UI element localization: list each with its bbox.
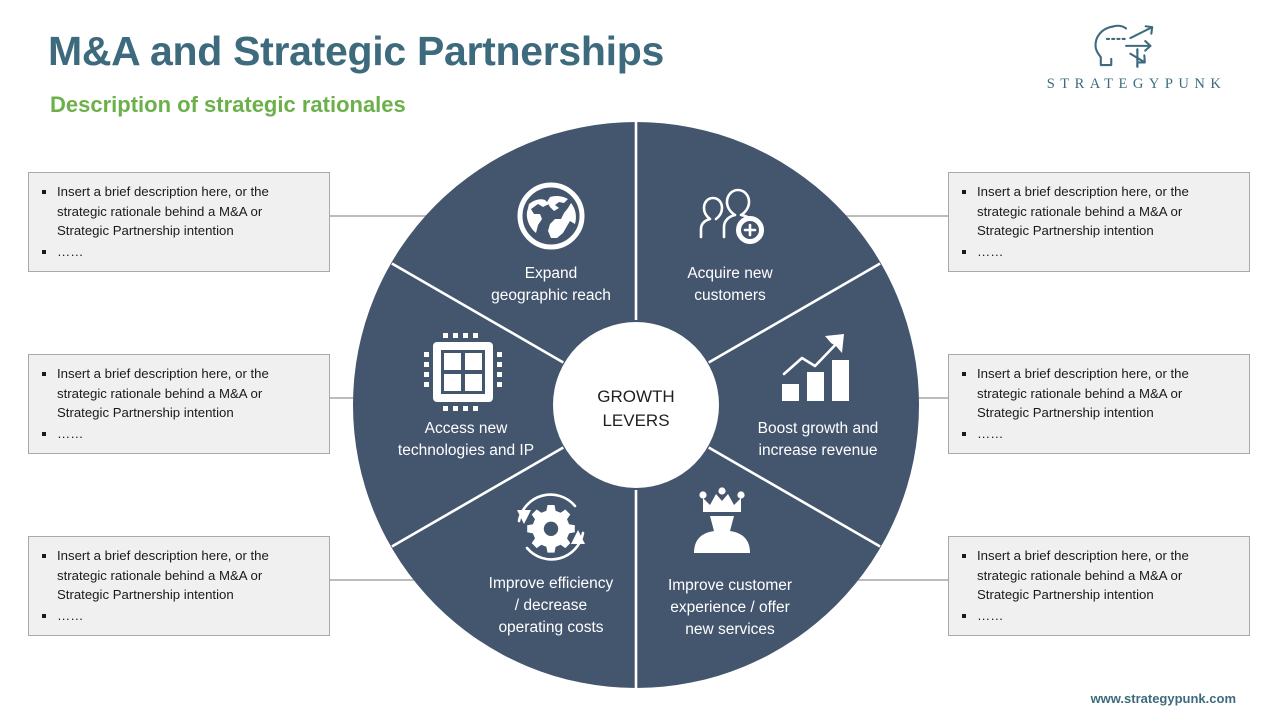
callout-left-bottom[interactable]: Insert a brief description here, or the … xyxy=(28,536,330,636)
gear-refresh-icon xyxy=(517,495,585,560)
hub-label-line-1: GROWTH xyxy=(597,387,674,406)
crowned-person-icon xyxy=(694,487,750,553)
page-subtitle: Description of strategic rationales xyxy=(50,92,406,118)
segment-access-new-technologies-ip[interactable]: Access new technologies and IP xyxy=(398,333,534,459)
segment-improve-customer-experience[interactable]: Improve customer experience / offer new … xyxy=(668,487,792,638)
microchip-icon xyxy=(424,333,502,411)
callout-right-middle[interactable]: Insert a brief description here, or the … xyxy=(948,354,1250,454)
slide-canvas: M&A and Strategic Partnerships Descripti… xyxy=(0,0,1280,720)
page-title: M&A and Strategic Partnerships xyxy=(48,28,664,75)
callout-left-middle[interactable]: Insert a brief description here, or the … xyxy=(28,354,330,454)
callout-left-top[interactable]: Insert a brief description here, or the … xyxy=(28,172,330,272)
segment-label-line: Access new xyxy=(425,420,509,437)
callout-bullet: Insert a brief description here, or the … xyxy=(39,182,317,241)
segment-label-line: Expand xyxy=(525,265,578,282)
segment-label-line: operating costs xyxy=(498,619,603,636)
callout-bullet: …… xyxy=(959,606,1237,626)
globe-icon xyxy=(520,185,582,247)
footer-website-url: www.strategypunk.com xyxy=(1091,691,1236,706)
brand-logo: STRATEGYPUNK xyxy=(1034,18,1234,93)
connector-dot-left-bottom xyxy=(459,574,471,586)
callout-right-top[interactable]: Insert a brief description here, or the … xyxy=(948,172,1250,272)
callout-bullet: Insert a brief description here, or the … xyxy=(959,182,1237,241)
connector-dot-right-bottom xyxy=(812,574,824,586)
connector-dot-right-top xyxy=(812,210,824,222)
segment-expand-geographic-reach[interactable]: Expand geographic reach xyxy=(491,185,611,304)
bar-chart-arrow-up-icon xyxy=(782,334,849,401)
segment-label-line: / decrease xyxy=(515,597,587,614)
segment-acquire-new-customers[interactable]: Acquire new customers xyxy=(687,190,773,304)
segment-label-line: technologies and IP xyxy=(398,442,534,459)
segment-label-line: Improve efficiency xyxy=(489,575,614,592)
connectors-left xyxy=(330,210,471,586)
segment-label-line: new services xyxy=(685,621,775,638)
callout-bullet: Insert a brief description here, or the … xyxy=(39,364,317,423)
connector-dot-left-middle xyxy=(387,392,399,404)
callout-right-bottom[interactable]: Insert a brief description here, or the … xyxy=(948,536,1250,636)
callout-bullet: …… xyxy=(39,424,317,444)
segment-label-line: Boost growth and xyxy=(758,420,879,437)
segment-boost-growth-increase-revenue[interactable]: Boost growth and increase revenue xyxy=(758,334,879,459)
connectors-right xyxy=(812,210,948,586)
segment-label-line: Improve customer xyxy=(668,577,792,594)
segment-improve-efficiency-decrease-costs[interactable]: Improve efficiency / decrease operating … xyxy=(489,495,614,636)
logo-wordmark: STRATEGYPUNK xyxy=(1034,76,1234,93)
callout-bullet: …… xyxy=(39,606,317,626)
connector-dot-right-middle xyxy=(884,392,896,404)
callout-bullet: …… xyxy=(959,242,1237,262)
users-plus-icon xyxy=(701,190,762,242)
segment-label-line: increase revenue xyxy=(759,442,878,459)
callout-bullet: Insert a brief description here, or the … xyxy=(39,546,317,605)
callout-bullet: …… xyxy=(39,242,317,262)
callout-bullet: Insert a brief description here, or the … xyxy=(959,546,1237,605)
segment-label-line: experience / offer xyxy=(670,599,789,616)
segment-label-line: geographic reach xyxy=(491,287,611,304)
segment-label-line: Acquire new xyxy=(687,265,773,282)
callout-bullet: …… xyxy=(959,424,1237,444)
connector-dot-left-top xyxy=(459,210,471,222)
callout-bullet: Insert a brief description here, or the … xyxy=(959,364,1237,423)
segment-label-line: customers xyxy=(694,287,766,304)
head-with-arrows-icon xyxy=(1086,18,1182,72)
hub-label-line-2: LEVERS xyxy=(602,411,669,430)
